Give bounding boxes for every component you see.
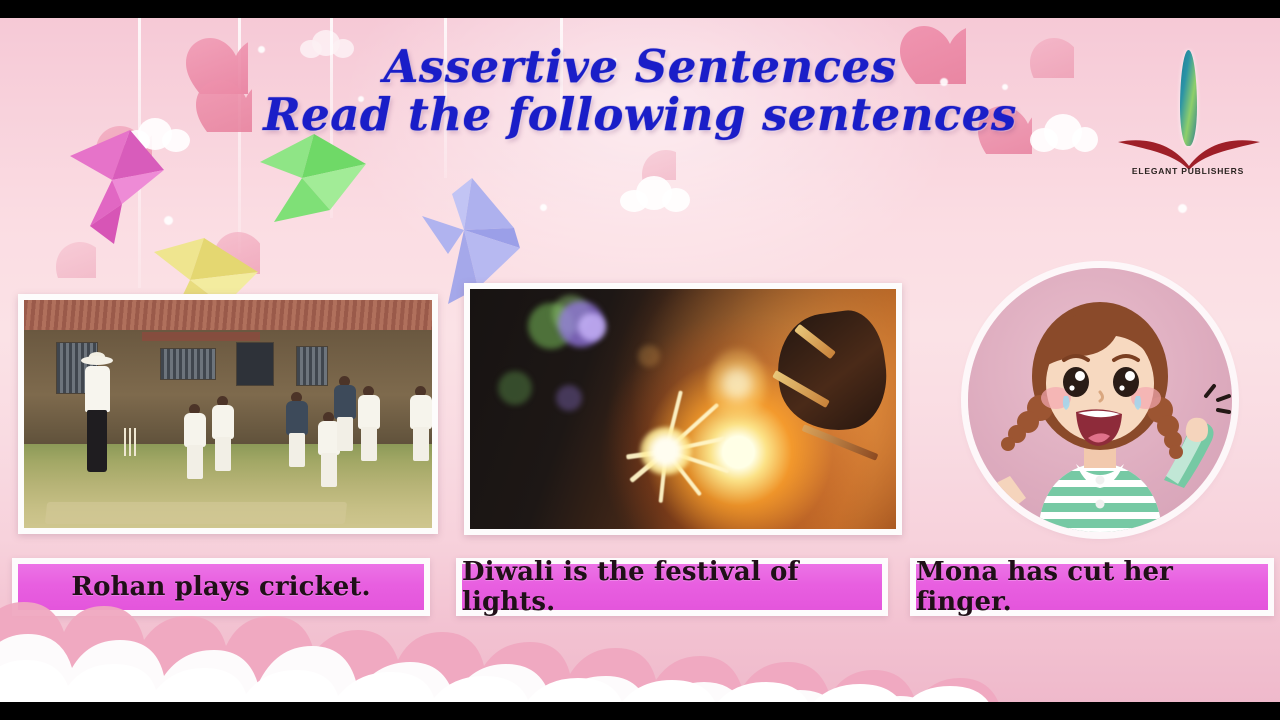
bokeh-light bbox=[498, 371, 532, 405]
origami-bird-green bbox=[254, 134, 384, 226]
cricket-stumps bbox=[124, 428, 126, 456]
letterbox-top bbox=[0, 0, 1280, 18]
bottom-cloud-band bbox=[0, 572, 1280, 702]
cricket-stumps bbox=[129, 428, 131, 456]
brand-name: ELEGANT PUBLISHERS bbox=[1108, 166, 1268, 176]
mona-illustration bbox=[968, 268, 1232, 532]
cricket-stumps bbox=[134, 428, 136, 456]
building-window bbox=[236, 342, 274, 386]
cloud-shapes bbox=[0, 572, 1280, 702]
title-block: Assertive Sentences Read the following s… bbox=[0, 44, 1280, 138]
building-window bbox=[296, 346, 328, 386]
leaf-icon bbox=[1180, 50, 1197, 146]
diwali-photo bbox=[470, 289, 896, 529]
spark-core bbox=[640, 427, 692, 475]
slide-stage: Assertive Sentences Read the following s… bbox=[0, 18, 1280, 702]
spark-core bbox=[708, 349, 766, 419]
bokeh-light bbox=[638, 345, 660, 367]
cricket-photo-frame bbox=[18, 294, 438, 534]
building-sign bbox=[142, 332, 260, 341]
girl-crying-illustration bbox=[968, 268, 1232, 532]
cricket-pitch bbox=[45, 502, 347, 524]
page-title-line1: Assertive Sentences bbox=[0, 44, 1280, 90]
slide-canvas: Assertive Sentences Read the following s… bbox=[0, 0, 1280, 720]
bokeh-light bbox=[556, 385, 582, 411]
sparkle-dot bbox=[540, 204, 547, 211]
brand-logo: ELEGANT PUBLISHERS bbox=[1108, 48, 1268, 188]
cricket-photo bbox=[24, 300, 432, 528]
hand-silhouette bbox=[770, 306, 893, 438]
letterbox-bottom bbox=[0, 702, 1280, 720]
building-roof bbox=[24, 300, 432, 332]
cricket-umpire bbox=[80, 356, 114, 484]
cloud-decoration bbox=[620, 176, 690, 212]
bokeh-light bbox=[578, 313, 606, 341]
building-window bbox=[160, 348, 216, 380]
page-title-line2: Read the following sentences bbox=[0, 92, 1280, 138]
sparkle-dot bbox=[1178, 204, 1187, 213]
origami-bird-pink bbox=[60, 130, 184, 248]
diwali-photo-frame bbox=[464, 283, 902, 535]
